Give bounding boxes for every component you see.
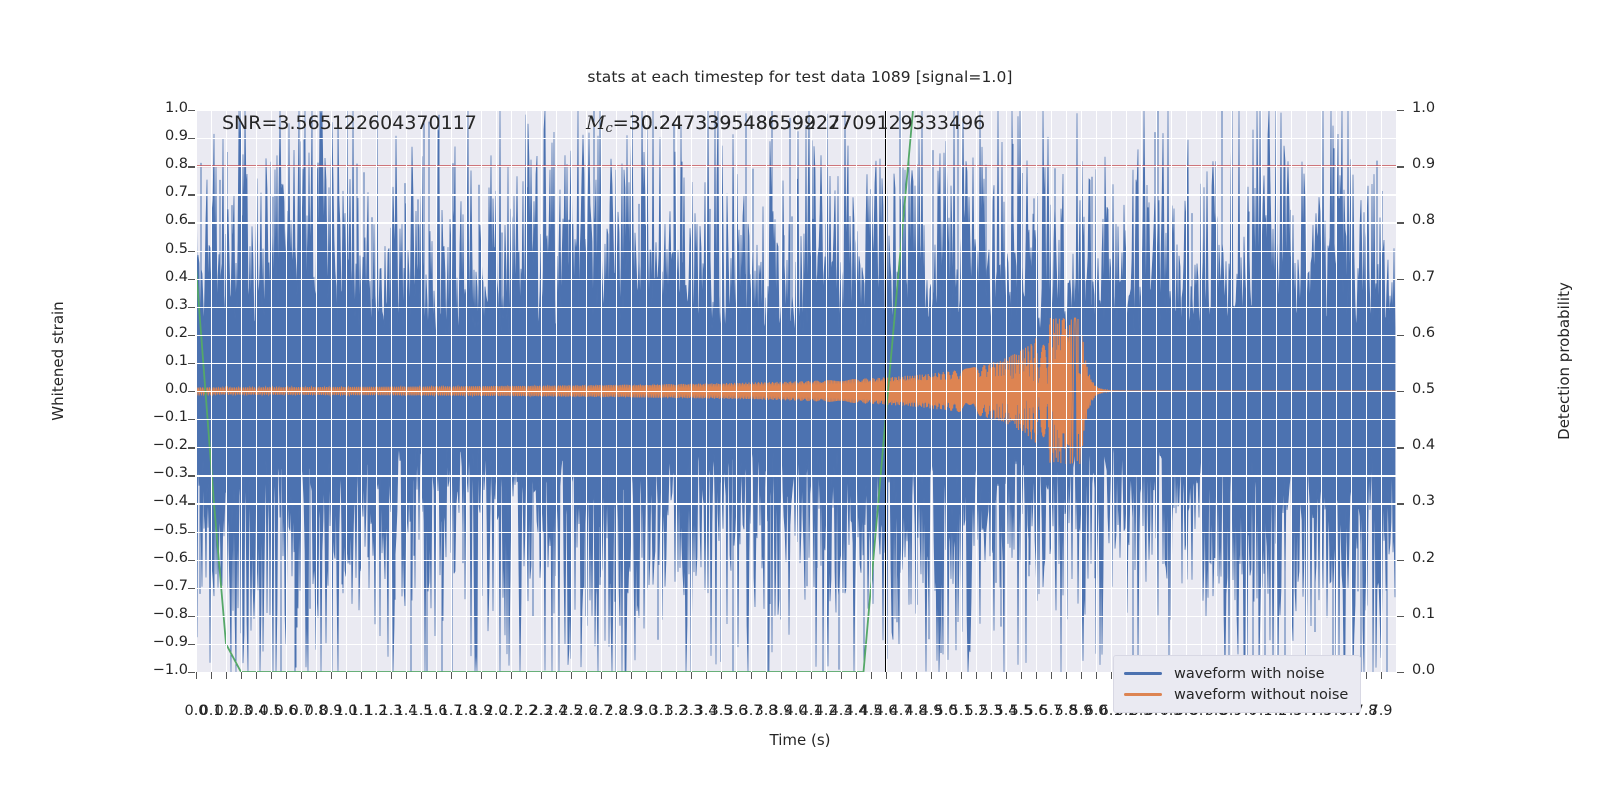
gridline-vertical (1231, 110, 1232, 672)
gridline-vertical (901, 110, 902, 672)
gridline-vertical (541, 110, 542, 672)
gridline-vertical (286, 110, 287, 672)
y-tick-label-right: 0.3 (1412, 493, 1472, 509)
y-tick-label-left: −0.2 (128, 437, 188, 453)
gridline-vertical (1246, 110, 1247, 672)
x-tick-mark (1006, 672, 1007, 679)
gridline-vertical (646, 110, 647, 672)
y-tick-label-left: 1.0 (128, 100, 188, 116)
y-tick-label-left: −0.9 (128, 634, 188, 650)
y-tick-mark-left (188, 644, 195, 645)
y-tick-label-right: 0.0 (1412, 662, 1472, 678)
x-tick-mark (541, 672, 542, 679)
gridline-vertical (226, 110, 227, 672)
gridline-vertical (751, 110, 752, 672)
x-tick-mark (601, 672, 602, 679)
gridline-vertical (1336, 110, 1337, 672)
gridline-vertical (1201, 110, 1202, 672)
x-tick-mark (1366, 672, 1367, 679)
gridline-vertical (1306, 110, 1307, 672)
y-tick-label-right: 0.6 (1412, 325, 1472, 341)
x-tick-mark (451, 672, 452, 679)
x-tick-mark (376, 672, 377, 679)
x-tick-label: 7.9 (1359, 703, 1403, 719)
gridline-vertical (1021, 110, 1022, 672)
annotation-chirp-mass-overlap: Mc=30.2473395486599227 (586, 112, 852, 136)
y-tick-mark-left (188, 532, 195, 533)
x-tick-mark (796, 672, 797, 679)
x-tick-mark (196, 672, 197, 679)
gridline-vertical (496, 110, 497, 672)
gridline-vertical (1321, 110, 1322, 672)
legend-item[interactable]: waveform with noise (1124, 663, 1348, 684)
gridline-vertical (331, 110, 332, 672)
y-axis-label-right: Detection probability (1555, 221, 1573, 501)
y-tick-mark-left (188, 560, 195, 561)
gridline-vertical (691, 110, 692, 672)
x-tick-mark (481, 672, 482, 679)
y-tick-label-left: 0.5 (128, 241, 188, 257)
x-tick-mark (406, 672, 407, 679)
gridline-vertical (871, 110, 872, 672)
x-tick-mark (961, 672, 962, 679)
x-tick-mark (571, 672, 572, 679)
x-tick-mark (241, 672, 242, 679)
gridline-vertical (826, 110, 827, 672)
y-tick-label-left: −0.5 (128, 522, 188, 538)
y-tick-mark-left (188, 503, 195, 504)
y-tick-label-left: 0.4 (128, 269, 188, 285)
y-tick-mark-right (1397, 503, 1404, 504)
x-tick-mark (676, 672, 677, 679)
x-axis-label: Time (s) (0, 731, 1600, 749)
y-tick-mark-left (188, 588, 195, 589)
gridline-vertical (766, 110, 767, 672)
x-tick-mark (256, 672, 257, 679)
gridline-vertical (211, 110, 212, 672)
gridline-vertical (571, 110, 572, 672)
y-tick-label-left: 0.1 (128, 353, 188, 369)
y-tick-mark-right (1397, 279, 1404, 280)
x-tick-mark (706, 672, 707, 679)
gridline-vertical (601, 110, 602, 672)
x-tick-mark (466, 672, 467, 679)
y-tick-label-left: 0.6 (128, 212, 188, 228)
x-tick-mark (1021, 672, 1022, 679)
gridline-vertical (781, 110, 782, 672)
gridline-vertical (976, 110, 977, 672)
x-tick-mark (736, 672, 737, 679)
x-tick-mark (1036, 672, 1037, 679)
gridline-vertical (346, 110, 347, 672)
y-tick-mark-left (188, 279, 195, 280)
y-tick-label-left: 0.7 (128, 184, 188, 200)
figure-canvas: stats at each timestep for test data 108… (0, 0, 1600, 800)
x-tick-mark (211, 672, 212, 679)
x-tick-mark (421, 672, 422, 679)
y-tick-label-left: −0.4 (128, 493, 188, 509)
gridline-vertical (841, 110, 842, 672)
y-tick-mark-left (188, 222, 195, 223)
x-tick-mark (766, 672, 767, 679)
y-tick-label-left: −0.3 (128, 465, 188, 481)
x-tick-mark (616, 672, 617, 679)
y-tick-mark-left (188, 391, 195, 392)
x-tick-mark (916, 672, 917, 679)
y-tick-mark-left (188, 419, 195, 420)
gridline-vertical (706, 110, 707, 672)
y-tick-mark-left (188, 335, 195, 336)
x-tick-mark (286, 672, 287, 679)
x-tick-mark (511, 672, 512, 679)
x-tick-mark (901, 672, 902, 679)
gridline-vertical (721, 110, 722, 672)
y-tick-mark-left (188, 110, 195, 111)
x-tick-mark (526, 672, 527, 679)
annotation-snr: SNR=3.565122604370117 (222, 112, 477, 134)
y-tick-label-right: 0.7 (1412, 269, 1472, 285)
y-tick-mark-right (1397, 560, 1404, 561)
x-tick-mark (841, 672, 842, 679)
x-tick-mark (991, 672, 992, 679)
plot-area: SNR=3.565122604370117 Mc=30.247339548659… (196, 110, 1396, 672)
y-tick-label-left: 0.8 (128, 156, 188, 172)
y-tick-label-left: 0.0 (128, 381, 188, 397)
x-tick-mark (931, 672, 932, 679)
y-tick-label-left: 0.2 (128, 325, 188, 341)
x-tick-mark (751, 672, 752, 679)
gridline-vertical (241, 110, 242, 672)
legend-label: waveform with noise (1174, 666, 1325, 682)
x-tick-mark (316, 672, 317, 679)
x-tick-mark (1381, 672, 1382, 679)
gridline-vertical (1051, 110, 1052, 672)
gridline-vertical (961, 110, 962, 672)
gridline-vertical (1171, 110, 1172, 672)
y-tick-mark-right (1397, 447, 1404, 448)
chirp-mass-overlap-value: =30.2473395486599227 (613, 112, 853, 134)
y-tick-mark-left (188, 447, 195, 448)
y-tick-mark-right (1397, 110, 1404, 111)
x-tick-mark (661, 672, 662, 679)
x-tick-mark (586, 672, 587, 679)
gridline-vertical (1141, 110, 1142, 672)
gridline-vertical (931, 110, 932, 672)
gridline-vertical (1096, 110, 1097, 672)
gridline-vertical (1276, 110, 1277, 672)
gridline-vertical (316, 110, 317, 672)
x-tick-mark (946, 672, 947, 679)
x-tick-mark (301, 672, 302, 679)
gridline-vertical (1381, 110, 1382, 672)
gridline-vertical (556, 110, 557, 672)
x-tick-mark (856, 672, 857, 679)
y-tick-mark-left (188, 138, 195, 139)
x-tick-mark (1096, 672, 1097, 679)
gridline-vertical (1261, 110, 1262, 672)
y-tick-label-left: −0.7 (128, 578, 188, 594)
y-tick-label-left: −0.6 (128, 550, 188, 566)
gridline-vertical (1291, 110, 1292, 672)
gridline-vertical (391, 110, 392, 672)
y-tick-mark-left (188, 672, 195, 673)
y-tick-mark-right (1397, 391, 1404, 392)
gridline-vertical (196, 110, 197, 672)
x-tick-mark (691, 672, 692, 679)
y-tick-mark-right (1397, 222, 1404, 223)
gridline-vertical (436, 110, 437, 672)
y-tick-label-right: 0.5 (1412, 381, 1472, 397)
gridline-vertical (256, 110, 257, 672)
y-tick-label-left: −0.1 (128, 409, 188, 425)
gridline-vertical (886, 110, 887, 672)
legend-label: waveform without noise (1174, 687, 1348, 703)
gridline-vertical (1216, 110, 1217, 672)
gridline-vertical (406, 110, 407, 672)
gridline-vertical (1111, 110, 1112, 672)
gridline-vertical (1036, 110, 1037, 672)
y-tick-label-right: 0.2 (1412, 550, 1472, 566)
gridline-vertical (676, 110, 677, 672)
gridline-vertical (631, 110, 632, 672)
x-tick-mark (1051, 672, 1052, 679)
gridline-vertical (1186, 110, 1187, 672)
gridline-vertical (301, 110, 302, 672)
x-tick-mark (1066, 672, 1067, 679)
y-tick-label-left: −0.8 (128, 606, 188, 622)
gridline-vertical (1006, 110, 1007, 672)
gridline-vertical (661, 110, 662, 672)
gridline-vertical (1066, 110, 1067, 672)
gridline-vertical (1156, 110, 1157, 672)
gridline-vertical (1081, 110, 1082, 672)
y-tick-mark-left (188, 363, 195, 364)
y-tick-label-right: 0.1 (1412, 606, 1472, 622)
x-tick-mark (646, 672, 647, 679)
x-tick-mark (361, 672, 362, 679)
x-tick-mark (811, 672, 812, 679)
y-tick-label-right: 1.0 (1412, 100, 1472, 116)
legend-color-swatch (1124, 693, 1162, 696)
y-tick-mark-left (188, 194, 195, 195)
gridline-vertical (736, 110, 737, 672)
gridline-vertical (361, 110, 362, 672)
y-tick-mark-right (1397, 616, 1404, 617)
gridline-vertical (526, 110, 527, 672)
gridline-vertical (466, 110, 467, 672)
gridline-vertical (376, 110, 377, 672)
y-tick-label-right: 0.9 (1412, 156, 1472, 172)
legend-item[interactable]: waveform without noise (1124, 684, 1348, 705)
x-tick-mark (226, 672, 227, 679)
y-tick-mark-right (1397, 335, 1404, 336)
gridline-vertical (481, 110, 482, 672)
y-tick-mark-left (188, 616, 195, 617)
gridline-vertical (271, 110, 272, 672)
page-title: stats at each timestep for test data 108… (0, 68, 1600, 86)
y-tick-mark-right (1397, 166, 1404, 167)
gridline-vertical (916, 110, 917, 672)
legend: waveform with noisewaveform without nois… (1113, 655, 1361, 713)
x-tick-mark (346, 672, 347, 679)
y-tick-mark-right (1397, 672, 1404, 673)
gridline-vertical (811, 110, 812, 672)
gridline-vertical (451, 110, 452, 672)
gridline-vertical (991, 110, 992, 672)
gridline-vertical (1126, 110, 1127, 672)
x-tick-mark (721, 672, 722, 679)
gridline-vertical (796, 110, 797, 672)
x-tick-mark (886, 672, 887, 679)
y-tick-mark-left (188, 166, 195, 167)
x-tick-mark (1081, 672, 1082, 679)
gridline-vertical (616, 110, 617, 672)
gridline-vertical (946, 110, 947, 672)
gridline-vertical (856, 110, 857, 672)
x-tick-mark (631, 672, 632, 679)
x-tick-mark (331, 672, 332, 679)
x-tick-mark (781, 672, 782, 679)
y-tick-label-right: 0.8 (1412, 212, 1472, 228)
y-tick-label-left: −1.0 (128, 662, 188, 678)
x-tick-mark (556, 672, 557, 679)
gridline-vertical (511, 110, 512, 672)
y-tick-mark-left (188, 251, 195, 252)
x-tick-mark (496, 672, 497, 679)
gridline-vertical (586, 110, 587, 672)
y-tick-label-left: 0.3 (128, 297, 188, 313)
y-axis-label-left: Whitened strain (49, 241, 67, 481)
gridline-vertical (1366, 110, 1367, 672)
x-tick-mark (436, 672, 437, 679)
x-tick-mark (871, 672, 872, 679)
y-tick-mark-left (188, 475, 195, 476)
y-tick-label-right: 0.4 (1412, 437, 1472, 453)
x-tick-mark (391, 672, 392, 679)
legend-color-swatch (1124, 672, 1162, 675)
x-tick-mark (826, 672, 827, 679)
gridline-vertical (1351, 110, 1352, 672)
x-tick-mark (976, 672, 977, 679)
y-tick-label-left: 0.9 (128, 128, 188, 144)
gridline-vertical (421, 110, 422, 672)
x-tick-mark (271, 672, 272, 679)
y-tick-mark-left (188, 307, 195, 308)
